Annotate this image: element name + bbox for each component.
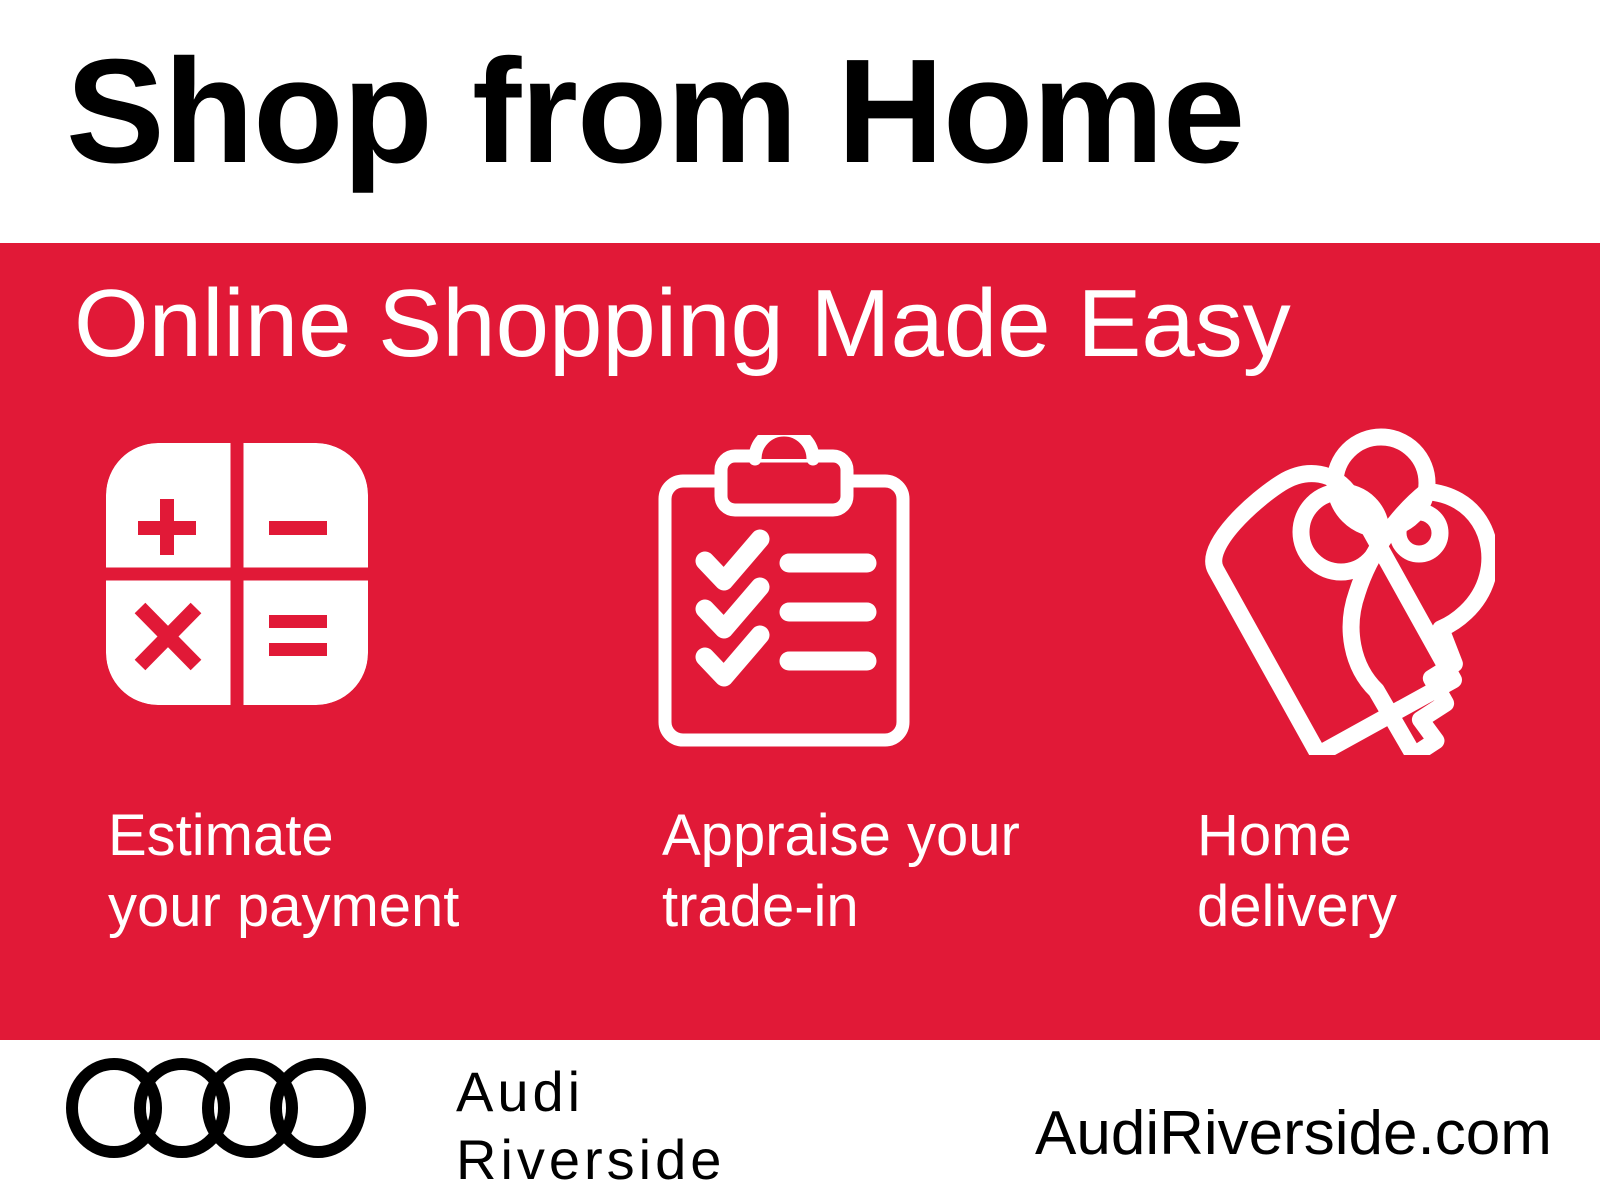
calculator-icon — [106, 443, 368, 743]
dealer-name: Audi Riverside — [456, 1058, 725, 1195]
feature-list: Estimate your payment — [0, 443, 1600, 1143]
feature-estimate-payment[interactable]: Estimate your payment — [96, 443, 616, 1083]
poster: Shop from Home Online Shopping Made Easy — [0, 0, 1600, 1200]
header-section: Shop from Home — [0, 0, 1600, 243]
footer-section: Audi Riverside AudiRiverside.com — [0, 1040, 1600, 1200]
promo-banner: Online Shopping Made Easy — [0, 243, 1600, 1040]
feature-appraise-trade-in[interactable]: Appraise your trade-in — [650, 443, 1170, 1083]
feature-caption: Estimate your payment — [108, 801, 459, 943]
feature-caption: Home delivery — [1197, 801, 1397, 943]
page-title: Shop from Home — [66, 38, 1244, 186]
clipboard-checklist-icon — [658, 435, 910, 735]
website-url[interactable]: AudiRiverside.com — [1035, 1098, 1552, 1169]
tag-and-keys-icon — [1195, 425, 1495, 725]
feature-caption: Appraise your trade-in — [662, 801, 1020, 943]
feature-home-delivery[interactable]: Home delivery — [1185, 443, 1600, 1083]
banner-heading: Online Shopping Made Easy — [74, 276, 1291, 372]
audi-four-rings-logo — [66, 1058, 366, 1163]
